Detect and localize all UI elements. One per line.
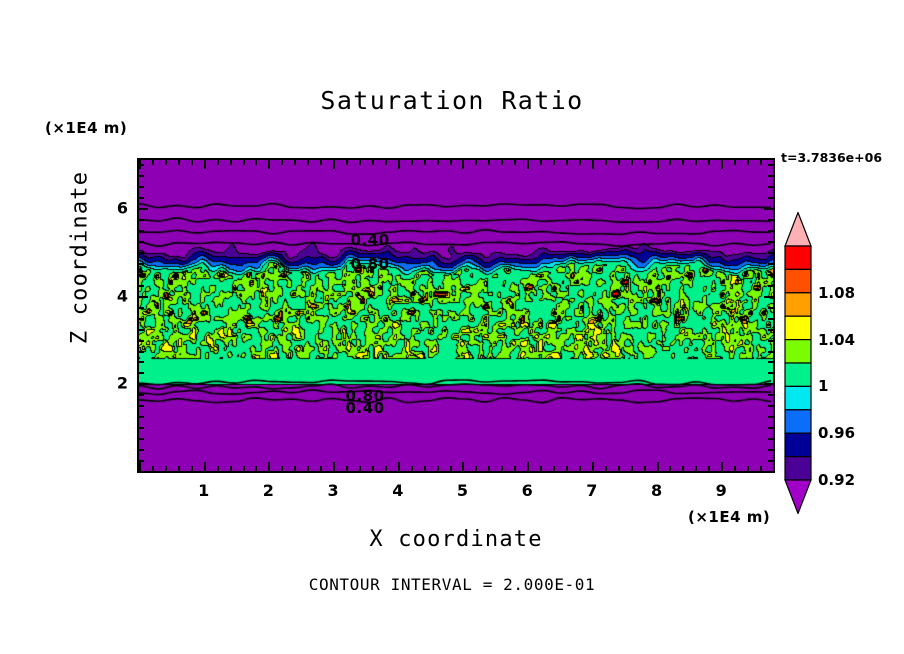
axis-tick (411, 160, 413, 165)
y-axis-title: Z coordinate (68, 158, 93, 358)
axis-tick (139, 329, 144, 331)
axis-tick (768, 219, 773, 221)
axis-tick (320, 466, 322, 471)
axis-tick (764, 208, 773, 210)
x-tick-label: 3 (328, 481, 339, 500)
contour-field-canvas (139, 160, 773, 471)
axis-tick (768, 285, 773, 287)
axis-tick (346, 466, 348, 471)
axis-tick (592, 160, 594, 169)
axis-tick (139, 175, 144, 177)
axis-tick (618, 160, 620, 165)
axis-tick (139, 438, 144, 440)
contour-label: 0.40 (345, 399, 384, 417)
axis-tick (669, 466, 671, 471)
x-tick-label: 7 (586, 481, 597, 500)
axis-tick (139, 318, 144, 320)
axis-tick (768, 252, 773, 254)
axis-tick (475, 466, 477, 471)
axis-tick (139, 230, 144, 232)
axis-tick (566, 160, 568, 165)
axis-tick (268, 160, 270, 169)
axis-tick (768, 274, 773, 276)
axis-tick (139, 186, 144, 188)
axis-tick (592, 462, 594, 471)
axis-tick (178, 160, 180, 165)
axis-tick (139, 340, 144, 342)
axis-tick (294, 160, 296, 165)
axis-tick (682, 160, 684, 165)
axis-tick (152, 160, 154, 165)
axis-tick (139, 449, 144, 451)
axis-tick (747, 160, 749, 165)
axis-tick (139, 394, 144, 396)
axis-tick (768, 263, 773, 265)
axis-tick (191, 466, 193, 471)
axis-tick (243, 160, 245, 165)
x-tick-label: 4 (392, 481, 403, 500)
axis-tick (768, 329, 773, 331)
axis-tick (540, 160, 542, 165)
axis-tick (411, 466, 413, 471)
axis-tick (268, 462, 270, 471)
axis-tick (385, 466, 387, 471)
axis-tick (139, 296, 148, 298)
axis-tick (768, 175, 773, 177)
axis-tick (191, 160, 193, 165)
y-axis-units-label: (×1E4 m) (45, 119, 127, 137)
colorbar-tick-label: 1.08 (818, 284, 855, 302)
axis-tick (708, 160, 710, 165)
axis-tick (139, 219, 144, 221)
axis-tick (139, 285, 144, 287)
axis-tick (768, 241, 773, 243)
axis-tick (152, 466, 154, 471)
axis-tick (527, 462, 529, 471)
axis-tick (644, 160, 646, 165)
axis-tick (346, 160, 348, 165)
axis-tick (139, 351, 144, 353)
axis-tick (768, 416, 773, 418)
axis-tick (424, 466, 426, 471)
axis-tick (768, 186, 773, 188)
axis-tick (768, 427, 773, 429)
axis-tick (734, 160, 736, 165)
time-annotation: t=3.7836e+06 (781, 150, 882, 165)
axis-tick (721, 160, 723, 169)
axis-tick (243, 466, 245, 471)
axis-tick (768, 351, 773, 353)
axis-tick (139, 383, 148, 385)
axis-tick (514, 160, 516, 165)
figure-root: Saturation Ratio (×1E4 m) t=3.7836e+06 1… (0, 0, 904, 654)
x-axis-title: X coordinate (137, 527, 775, 552)
axis-tick (372, 160, 374, 165)
axis-tick (768, 405, 773, 407)
axis-tick (139, 164, 144, 166)
axis-tick (139, 197, 144, 199)
axis-tick (204, 160, 206, 169)
axis-tick (527, 160, 529, 169)
colorbar (784, 212, 812, 514)
x-tick-label: 8 (651, 481, 662, 500)
axis-tick (768, 361, 773, 363)
axis-tick (695, 466, 697, 471)
axis-tick (501, 466, 503, 471)
axis-tick (217, 466, 219, 471)
axis-tick (385, 160, 387, 165)
axis-tick (553, 466, 555, 471)
axis-tick (760, 160, 762, 165)
axis-tick (307, 160, 309, 165)
axis-tick (333, 160, 335, 169)
axis-tick (682, 466, 684, 471)
axis-tick (764, 296, 773, 298)
axis-tick (217, 160, 219, 165)
axis-tick (139, 307, 144, 309)
colorbar-tick-label: 0.96 (818, 424, 855, 442)
axis-tick (773, 466, 775, 471)
axis-tick (139, 263, 144, 265)
x-tick-label: 9 (716, 481, 727, 500)
axis-tick (768, 230, 773, 232)
axis-tick (398, 462, 400, 471)
axis-tick (768, 318, 773, 320)
axis-tick (657, 462, 659, 471)
axis-tick (437, 466, 439, 471)
axis-tick (631, 466, 633, 471)
axis-tick (333, 462, 335, 471)
axis-tick (553, 160, 555, 165)
page-title: Saturation Ratio (0, 86, 904, 115)
x-axis-units-label: (×1E4 m) (688, 508, 770, 526)
axis-tick (255, 160, 257, 165)
axis-tick (721, 462, 723, 471)
contour-label: 0.40 (350, 231, 389, 249)
axis-tick (139, 361, 144, 363)
axis-tick (579, 466, 581, 471)
axis-tick (768, 372, 773, 374)
axis-tick (768, 307, 773, 309)
axis-tick (307, 466, 309, 471)
axis-tick (450, 466, 452, 471)
axis-tick (768, 394, 773, 396)
contour-interval-caption: CONTOUR INTERVAL = 2.000E-01 (0, 575, 904, 594)
axis-tick (768, 438, 773, 440)
axis-tick (204, 462, 206, 471)
axis-tick (398, 160, 400, 169)
colorbar-tick-label: 1 (818, 377, 828, 395)
axis-tick (747, 466, 749, 471)
axis-tick (566, 466, 568, 471)
axis-tick (605, 466, 607, 471)
x-tick-label: 1 (198, 481, 209, 500)
axis-tick (437, 160, 439, 165)
axis-tick (462, 462, 464, 471)
axis-tick (768, 460, 773, 462)
axis-tick (139, 252, 144, 254)
axis-tick (695, 160, 697, 165)
axis-tick (255, 466, 257, 471)
axis-tick (320, 160, 322, 165)
contour-plot-area (137, 158, 775, 473)
y-tick-label: 4 (112, 286, 128, 305)
axis-tick (501, 160, 503, 165)
axis-tick (139, 460, 144, 462)
axis-tick (230, 466, 232, 471)
axis-tick (139, 471, 148, 473)
axis-tick (773, 160, 775, 165)
axis-tick (139, 427, 144, 429)
axis-tick (139, 372, 144, 374)
axis-tick (644, 466, 646, 471)
colorbar-tick-label: 0.92 (818, 471, 855, 489)
axis-tick (294, 466, 296, 471)
axis-tick (462, 160, 464, 169)
axis-tick (139, 416, 144, 418)
axis-tick (768, 164, 773, 166)
axis-tick (514, 466, 516, 471)
axis-tick (708, 466, 710, 471)
axis-tick (605, 160, 607, 165)
x-tick-label: 2 (263, 481, 274, 500)
axis-tick (475, 160, 477, 165)
axis-tick (359, 466, 361, 471)
axis-tick (230, 160, 232, 165)
axis-tick (579, 160, 581, 165)
axis-tick (139, 241, 144, 243)
axis-tick (540, 466, 542, 471)
axis-tick (281, 160, 283, 165)
axis-tick (424, 160, 426, 165)
axis-tick (372, 466, 374, 471)
axis-tick (768, 197, 773, 199)
axis-tick (768, 340, 773, 342)
y-tick-label: 2 (112, 374, 128, 393)
contour-label: 0.80 (350, 255, 389, 273)
axis-tick (760, 466, 762, 471)
axis-tick (450, 160, 452, 165)
axis-tick (768, 449, 773, 451)
x-tick-label: 6 (522, 481, 533, 500)
axis-tick (139, 462, 141, 471)
axis-tick (139, 208, 148, 210)
axis-tick (165, 466, 167, 471)
axis-tick (139, 405, 144, 407)
axis-tick (618, 466, 620, 471)
axis-tick (657, 160, 659, 169)
axis-tick (165, 160, 167, 165)
axis-tick (631, 160, 633, 165)
axis-tick (734, 466, 736, 471)
axis-tick (488, 160, 490, 165)
axis-tick (178, 466, 180, 471)
colorbar-tick-label: 1.04 (818, 331, 855, 349)
axis-tick (764, 383, 773, 385)
axis-tick (139, 274, 144, 276)
y-tick-label: 6 (112, 199, 128, 218)
axis-tick (281, 466, 283, 471)
axis-tick (669, 160, 671, 165)
x-tick-label: 5 (457, 481, 468, 500)
axis-tick (764, 471, 773, 473)
axis-tick (359, 160, 361, 165)
axis-tick (488, 466, 490, 471)
